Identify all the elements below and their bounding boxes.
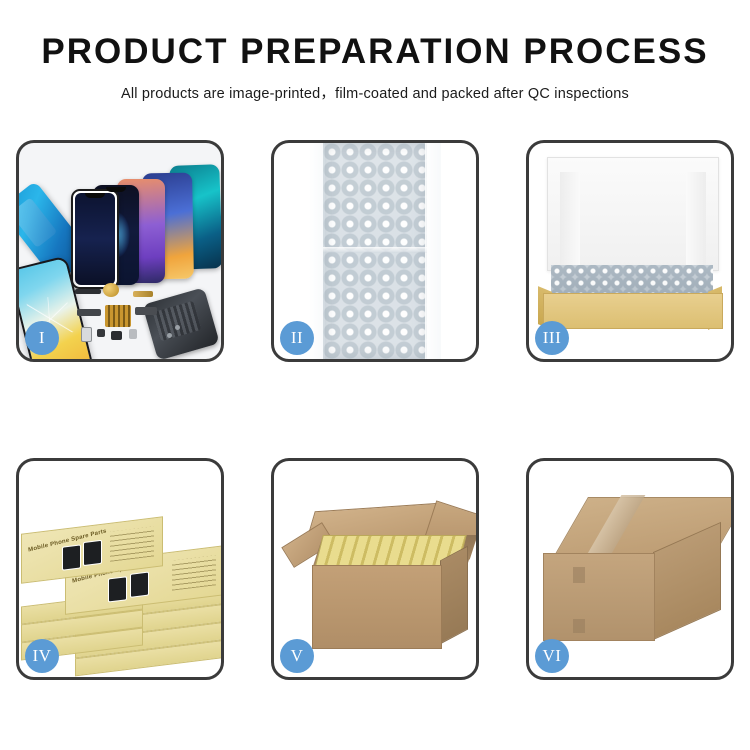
phone-notch-icon — [85, 193, 105, 198]
part-camera-lens-icon — [103, 283, 119, 297]
carton-seam-tab-2 — [573, 619, 585, 633]
product-preparation-infographic: PRODUCT PREPARATION PROCESS All products… — [0, 0, 750, 750]
lid-phone-image-2 — [130, 572, 149, 598]
step-panel-5: V — [271, 458, 479, 680]
header: PRODUCT PREPARATION PROCESS All products… — [0, 0, 750, 103]
step-panel-6: VI — [526, 458, 734, 680]
spare-parts-group — [75, 281, 185, 355]
bubble-wrap-edge-left — [309, 143, 325, 359]
phone-notch-icon — [106, 187, 126, 192]
badge-step-6: VI — [535, 639, 569, 673]
lid-flap-left — [560, 172, 580, 272]
lid-phone-image-2 — [83, 540, 102, 566]
part-flex-cable-1-icon — [77, 309, 101, 316]
lid-phone-image-1 — [62, 544, 81, 570]
process-steps-grid: I II III — [16, 140, 735, 680]
carton-side-right — [440, 546, 468, 645]
part-speaker-mesh-icon — [75, 289, 101, 294]
step-panel-4: Mobile Phone Spare Parts Mobile Phone Sp… — [16, 458, 224, 680]
lid-spec-lines — [172, 555, 216, 590]
lid-spec-lines — [110, 526, 154, 561]
part-screw-2-icon — [175, 325, 180, 330]
inner-box-front-icon — [543, 293, 723, 329]
part-screw-1-icon — [167, 333, 172, 338]
part-connector-grid-icon — [105, 305, 131, 327]
inner-box-lid-icon — [547, 157, 719, 271]
carton-seam-tab-1 — [573, 567, 585, 583]
part-flex-cable-2-icon — [133, 291, 153, 297]
page-subtitle: All products are image-printed，film-coat… — [0, 82, 750, 103]
lid-flap-right — [686, 172, 706, 272]
step-panel-1: I — [16, 140, 224, 362]
page-title: PRODUCT PREPARATION PROCESS — [0, 34, 750, 69]
step-panel-3: III — [526, 140, 734, 362]
badge-step-5: V — [280, 639, 314, 673]
phone-screen-1 — [71, 189, 119, 289]
step-panel-2: II — [271, 140, 479, 362]
open-carton-front-icon — [312, 565, 442, 649]
lid-phone-image-1 — [108, 576, 127, 602]
sealed-carton-front-icon — [543, 553, 655, 641]
part-flex-cable-3-icon — [135, 307, 157, 315]
part-chip-2-icon — [97, 329, 105, 337]
bubble-wrap-edge-right — [425, 143, 441, 359]
badge-step-3: III — [535, 321, 569, 355]
bubble-wrap-icon — [323, 143, 427, 359]
part-chip-1-icon — [81, 327, 92, 342]
badge-step-4: IV — [25, 639, 59, 673]
badge-step-1: I — [25, 321, 59, 355]
badge-step-2: II — [280, 321, 314, 355]
part-chip-4-icon — [129, 329, 137, 339]
part-chip-3-icon — [111, 331, 122, 340]
